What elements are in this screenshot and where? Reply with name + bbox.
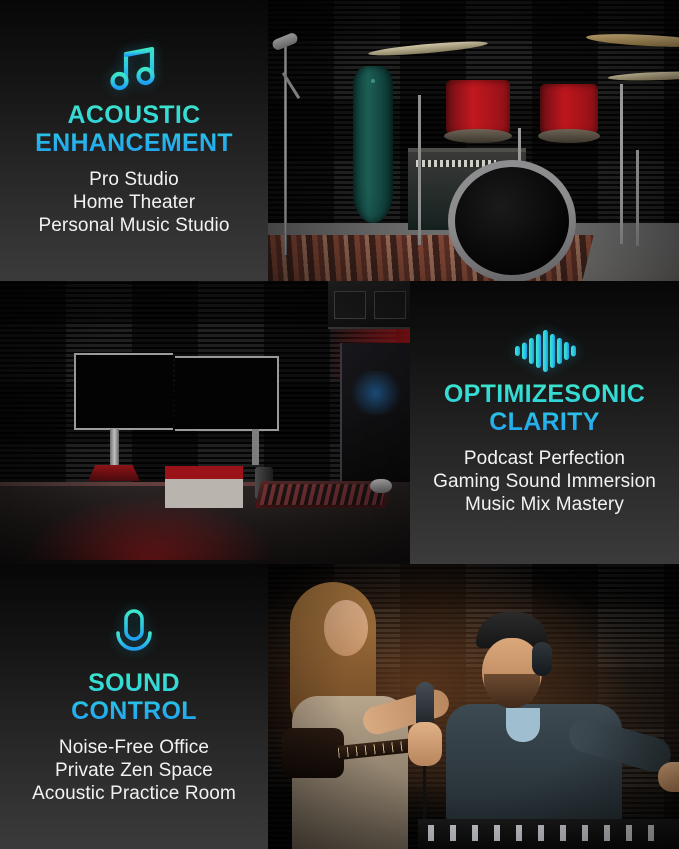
panel-headline: OPTIMIZESONIC CLARITY [444,380,645,437]
panel-headline: ACOUSTIC ENHANCEMENT [35,101,233,158]
feature-item: Pro Studio [38,168,229,191]
hand-holding-mic [408,722,442,766]
headline-line: CONTROL [71,697,197,726]
headline-line: ENHANCEMENT [35,129,233,158]
guitarist-person [290,578,410,848]
monitor-stand [110,429,119,467]
beard [484,674,540,708]
text-panel-optimizesonic-clarity: OPTIMIZESONIC CLARITY Podcast Perfection… [410,281,679,564]
wall-shelf-boxes [328,281,410,329]
face [324,600,368,656]
headline-line: OPTIMIZESONIC [444,380,645,409]
hand [658,762,679,792]
feature-item: Podcast Perfection [433,447,656,470]
gaming-mouse [370,479,392,493]
rack-tom-right [540,84,598,134]
desktop-box [165,466,243,508]
feature-row-sound-control: SOUND CONTROL Noise-Free Office Private … [0,564,679,849]
feature-item: Acoustic Practice Room [32,782,236,805]
text-panel-sound-control: SOUND CONTROL Noise-Free Office Private … [0,564,268,849]
headline-line: ACOUSTIC [35,101,233,130]
feature-list: Noise-Free Office Private Zen Space Acou… [32,736,236,806]
feature-list: Pro Studio Home Theater Personal Music S… [38,168,229,238]
vocal-recording-session-photo [268,564,679,849]
feature-collage: ACOUSTIC ENHANCEMENT Pro Studio Home The… [0,0,679,849]
guitar-case [353,66,393,223]
text-panel-acoustic-enhancement: ACOUSTIC ENHANCEMENT Pro Studio Home The… [0,0,268,281]
cymbal-stand [418,95,421,245]
microphone-icon [111,608,157,662]
hardware-stand [636,150,639,246]
cymbal-stand [620,84,623,244]
feature-item: Private Zen Space [32,759,236,782]
monitor-left [74,353,173,430]
headphones [532,642,552,676]
rack-tom-left [446,80,510,134]
feature-row-acoustic-enhancement: ACOUSTIC ENHANCEMENT Pro Studio Home The… [0,0,679,281]
vocalist-person [428,612,638,848]
feature-item: Gaming Sound Immersion [433,470,656,493]
gaming-desk-setup-photo [0,281,410,564]
monitor-base [88,465,140,481]
music-note-icon [108,44,160,94]
monitor-right [175,356,279,431]
panel-headline: SOUND CONTROL [71,669,197,726]
headline-line: CLARITY [444,408,645,437]
pc-rgb-glow [348,371,404,415]
drum-kit-studio-photo [268,0,679,281]
feature-row-optimizesonic-clarity: OPTIMIZESONIC CLARITY Podcast Perfection… [0,281,679,564]
feature-item: Music Mix Mastery [433,493,656,516]
headline-line: SOUND [71,669,197,698]
feature-item: Home Theater [38,191,229,214]
mixing-console [418,819,679,849]
sound-wave-icon [514,329,576,373]
undershirt [506,708,540,742]
guitar-body [282,728,344,778]
monitor-arm [252,429,259,465]
feature-item: Personal Music Studio [38,214,229,237]
bass-drum [448,160,576,281]
feature-item: Noise-Free Office [32,736,236,759]
feature-list: Podcast Perfection Gaming Sound Immersio… [433,447,656,517]
